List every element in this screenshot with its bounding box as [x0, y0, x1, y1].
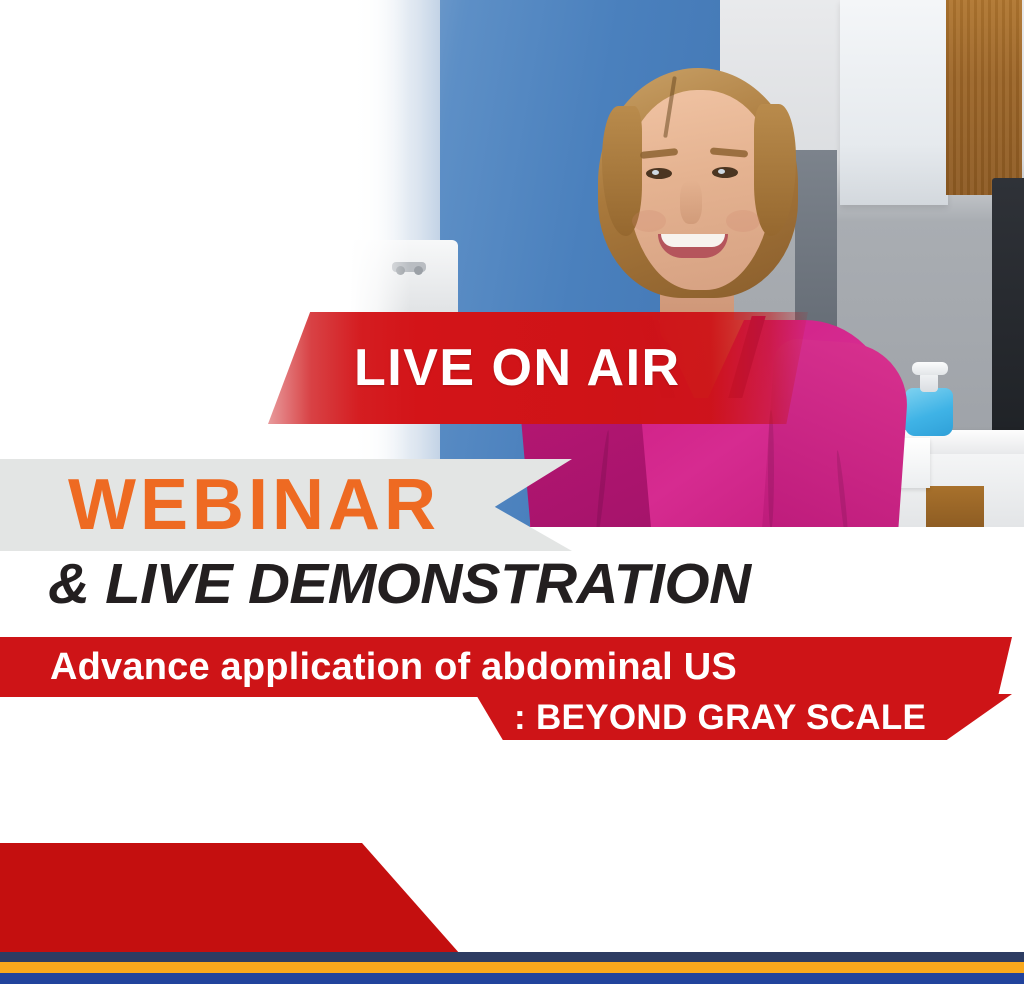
nose	[680, 180, 702, 224]
sanitizer-bottle	[905, 388, 953, 436]
dispenser-button-right	[414, 266, 423, 275]
live-on-air-badge: LIVE ON AIR	[268, 312, 808, 424]
subtitle-line-2: : BEYOND GRAY SCALE	[514, 700, 926, 735]
footer-red-shape	[0, 843, 460, 954]
fabric-fold	[768, 410, 774, 527]
eye-highlight-right	[718, 169, 725, 174]
photo-scene	[350, 0, 1024, 527]
eye-left	[646, 168, 672, 179]
wall-cabinet-wood	[946, 0, 1022, 195]
counter-drawer-right	[926, 486, 984, 527]
webinar-title: WEBINAR	[68, 469, 440, 541]
sanitizer-neck	[920, 372, 938, 392]
footer-stripe-navy	[0, 952, 1024, 962]
cheek-left	[632, 210, 666, 232]
footer-stripe-amber	[0, 962, 1024, 973]
subtitle-bar-secondary: : BEYOND GRAY SCALE	[468, 694, 1012, 740]
subtitle-line-1: Advance application of abdominal US	[50, 648, 737, 686]
live-demonstration-line: & LIVE DEMONSTRATION	[48, 556, 978, 612]
cheek-right	[726, 210, 760, 232]
sanitizer-pump-icon	[912, 362, 948, 375]
footer-stripe-blue	[0, 973, 1024, 984]
teeth	[661, 234, 725, 247]
live-demonstration-label: & LIVE DEMONSTRATION	[48, 556, 751, 613]
clinician-photo	[350, 0, 1024, 527]
dispenser-button-left	[396, 266, 405, 275]
live-on-air-label: LIVE ON AIR	[354, 342, 681, 394]
subtitle-bar-primary: Advance application of abdominal US	[0, 637, 1012, 697]
webinar-poster: LIVE ON AIR WEBINAR & LIVE DEMONSTRATION…	[0, 0, 1024, 984]
clinician-figure	[540, 20, 870, 527]
webinar-ribbon: WEBINAR	[0, 459, 572, 551]
eye-right	[712, 167, 738, 178]
eye-highlight-left	[652, 170, 659, 175]
